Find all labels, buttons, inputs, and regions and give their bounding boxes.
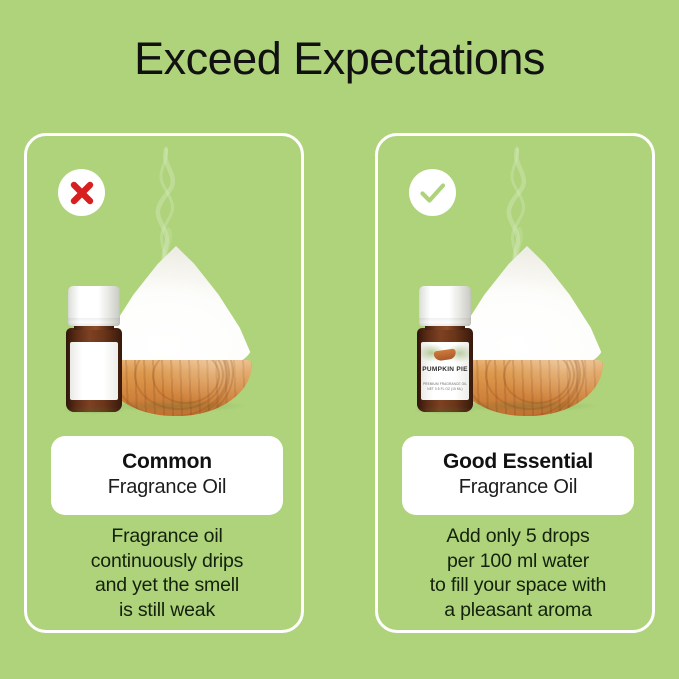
product-kind: Fragrance Oil [410, 475, 626, 500]
bottle-shadow [413, 406, 477, 414]
product-kind: Fragrance Oil [59, 475, 275, 500]
bottle-label-subtitle: PREMIUM FRAGRANCE OIL NET 0.5 FL OZ (15 … [421, 382, 469, 391]
description-line: Fragrance oil [41, 524, 293, 549]
card-description-good-essential: Add only 5 drops per 100 ml water to fil… [392, 524, 644, 622]
page-title: Exceed Expectations [0, 34, 679, 84]
infographic-page: { "page": { "title": "Exceed Expectation… [0, 0, 679, 679]
description-line: Add only 5 drops [392, 524, 644, 549]
description-line: to fill your space with [392, 573, 644, 598]
product-name-plate-good-essential: Good Essential Fragrance Oil [402, 436, 634, 515]
description-line: per 100 ml water [392, 549, 644, 574]
bottle-shadow [62, 406, 126, 414]
bottle-label: PUMPKIN PIE PREMIUM FRAGRANCE OIL NET 0.… [421, 342, 469, 400]
description-line: is still weak [41, 598, 293, 623]
product-scene-common [27, 136, 301, 426]
product-brand: Good Essential [410, 449, 626, 475]
card-description-common: Fragrance oil continuously drips and yet… [41, 524, 293, 622]
comparison-card-common: Common Fragrance Oil Fragrance oil conti… [24, 133, 304, 633]
bottle-glass [66, 328, 122, 412]
comparison-card-good-essential: PUMPKIN PIE PREMIUM FRAGRANCE OIL NET 0.… [375, 133, 655, 633]
bottle-cap [68, 286, 120, 326]
oil-bottle-common [64, 286, 124, 412]
description-line: and yet the smell [41, 573, 293, 598]
product-scene-good-essential: PUMPKIN PIE PREMIUM FRAGRANCE OIL NET 0.… [378, 136, 652, 426]
product-name-plate-common: Common Fragrance Oil [51, 436, 283, 515]
description-line: a pleasant aroma [392, 598, 644, 623]
description-line: continuously drips [41, 549, 293, 574]
bottle-label [70, 342, 118, 400]
oil-bottle-good-essential: PUMPKIN PIE PREMIUM FRAGRANCE OIL NET 0.… [415, 286, 475, 412]
bottle-glass: PUMPKIN PIE PREMIUM FRAGRANCE OIL NET 0.… [417, 328, 473, 412]
product-brand: Common [59, 449, 275, 475]
bottle-label-title: PUMPKIN PIE [421, 366, 469, 374]
bottle-cap [419, 286, 471, 326]
